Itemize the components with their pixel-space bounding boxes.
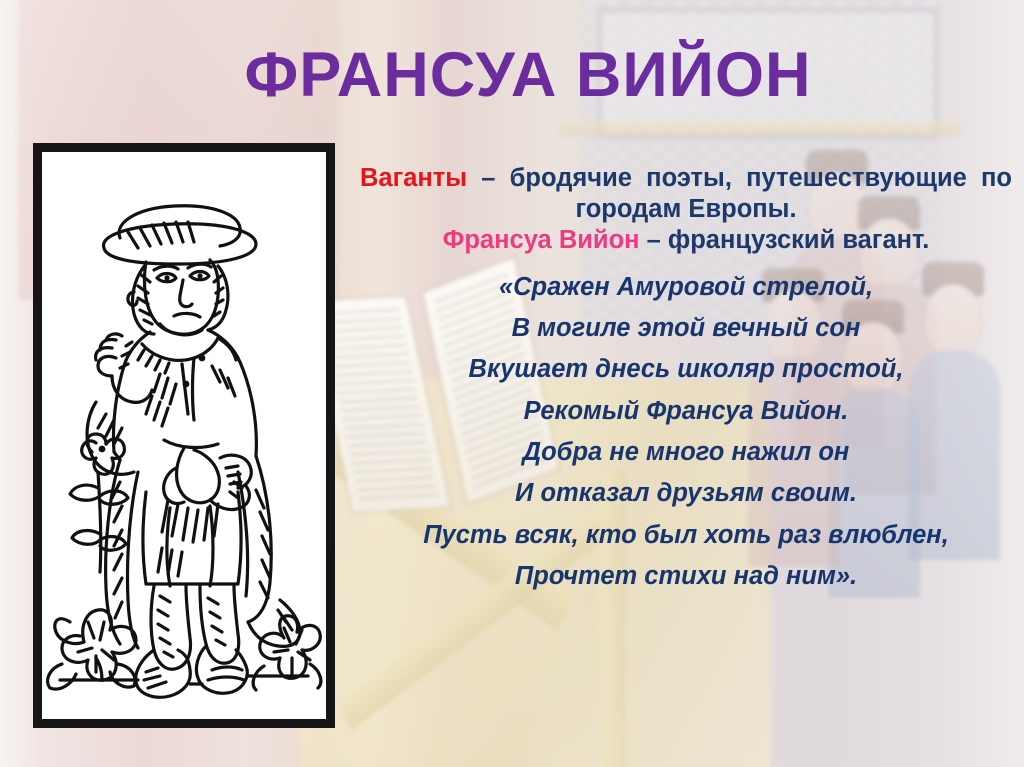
poem-line: «Сражен Амуровой стрелой, — [360, 267, 1012, 308]
poem-line: Добра не много нажил он — [360, 432, 1012, 473]
intro-definition-paragraph: Ваганты – бродячие поэты, путешествующие… — [360, 163, 1012, 224]
poem-line: В могиле этой вечный сон — [360, 308, 1012, 349]
poem-line: Прочтет стихи над ним». — [360, 556, 1012, 597]
intro-definition: – бродячие поэты, путешествующие по горо… — [467, 164, 1012, 223]
woodcut-figure-svg — [42, 152, 326, 719]
text-column: Ваганты – бродячие поэты, путешествующие… — [360, 163, 1012, 597]
slide-francois-villon: ФРАНСУА ВИЙОН — [0, 0, 1024, 767]
intro-term: Ваганты — [360, 164, 467, 192]
page-title: ФРАНСУА ВИЙОН — [208, 44, 848, 107]
poem-block: «Сражен Амуровой стрелой, В могиле этой … — [360, 267, 1012, 597]
intro-subject-paragraph: Франсуа Вийон – французский вагант. — [360, 224, 1012, 257]
intro-subject: Франсуа Вийон — [443, 226, 640, 254]
poem-line: Рекомый Франсуа Вийон. — [360, 391, 1012, 432]
poem-line: И отказал друзьям своим. — [360, 473, 1012, 514]
woodcut-illustration — [33, 143, 335, 728]
intro-subject-tail: – французский вагант. — [640, 226, 930, 254]
poem-line: Вкушает днесь школяр простой, — [360, 349, 1012, 390]
poem-line: Пусть всяк, кто был хоть раз влюблен, — [360, 515, 1012, 556]
